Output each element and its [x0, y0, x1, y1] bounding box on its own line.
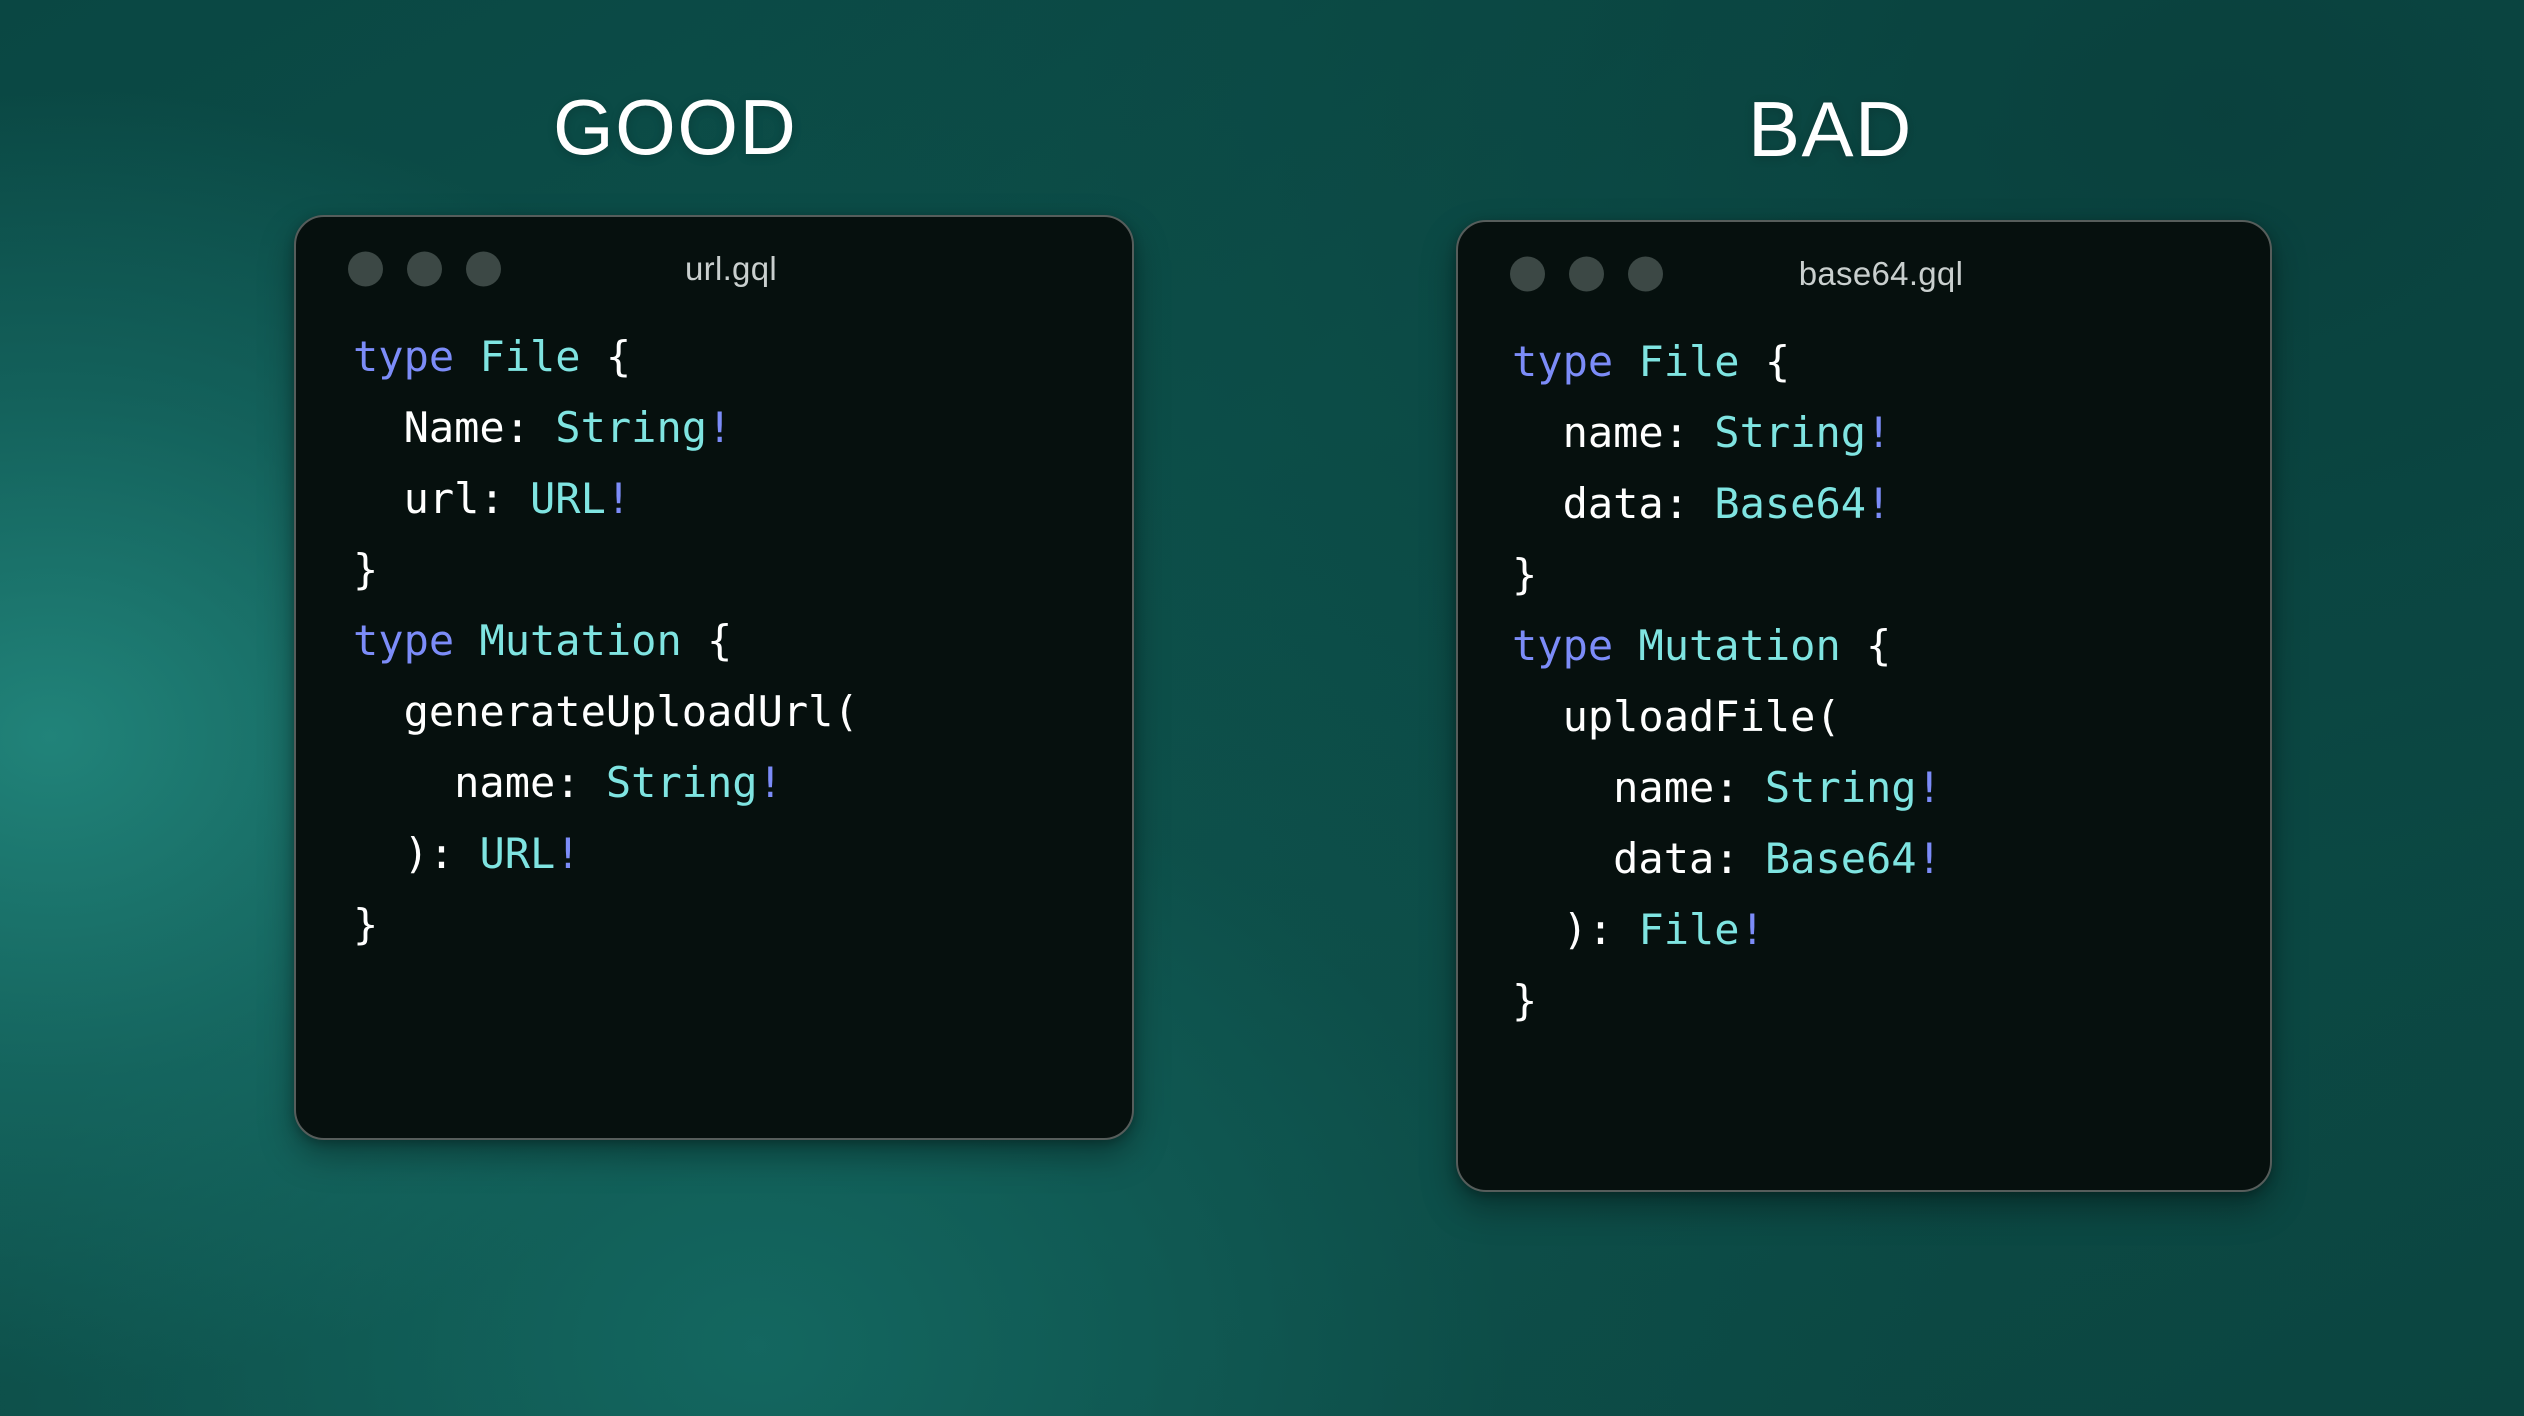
window-titlebar-good: url.gql: [296, 217, 1132, 321]
code-token-type: Base64: [1714, 479, 1866, 528]
code-window-bad: base64.gql type File { name: String! dat…: [1456, 220, 2272, 1192]
code-line: Name: String!: [353, 392, 1132, 463]
code-token-type: Mutation: [479, 616, 681, 665]
code-token-pun: ):: [353, 829, 479, 878]
code-block-good: type File { Name: String! url: URL!}type…: [296, 321, 1132, 960]
code-line: ): URL!: [353, 818, 1132, 889]
maximize-dot-icon[interactable]: [466, 252, 501, 287]
traffic-light-dots-good: [348, 252, 501, 287]
code-token-type: String: [1714, 408, 1866, 457]
code-token-type: String: [1765, 763, 1917, 812]
code-line: }: [353, 534, 1132, 605]
code-token-pun: {: [581, 332, 632, 381]
code-token-bang: !: [555, 829, 580, 878]
code-line: data: Base64!: [1512, 823, 2270, 894]
code-token-pun: data:: [1512, 479, 1714, 528]
minimize-dot-icon[interactable]: [1569, 257, 1604, 292]
code-token-pun: uploadFile(: [1512, 692, 1841, 741]
code-line: type Mutation {: [1512, 610, 2270, 681]
code-token-type: Base64: [1765, 834, 1917, 883]
code-line: name: String!: [1512, 397, 2270, 468]
close-dot-icon[interactable]: [1510, 257, 1545, 292]
code-token-pun: {: [1740, 337, 1791, 386]
traffic-light-dots-bad: [1510, 257, 1663, 292]
code-token-bang: !: [707, 403, 732, 452]
code-token-pun: [1613, 621, 1638, 670]
code-token-bang: !: [1866, 408, 1891, 457]
code-token-pun: name:: [1512, 408, 1714, 457]
code-token-pun: name:: [1512, 763, 1765, 812]
code-window-good: url.gql type File { Name: String! url: U…: [294, 215, 1134, 1140]
code-token-pun: }: [353, 900, 378, 949]
code-token-kw: type: [1512, 337, 1613, 386]
code-token-type: URL: [479, 829, 555, 878]
code-token-type: URL: [530, 474, 606, 523]
close-dot-icon[interactable]: [348, 252, 383, 287]
code-token-bang: !: [758, 758, 783, 807]
code-token-pun: name:: [353, 758, 606, 807]
code-token-kw: type: [353, 616, 454, 665]
code-token-pun: [454, 616, 479, 665]
code-token-pun: ):: [1512, 905, 1638, 954]
code-token-pun: generateUploadUrl(: [353, 687, 859, 736]
code-token-pun: [454, 332, 479, 381]
code-token-pun: Name:: [353, 403, 555, 452]
code-token-type: Mutation: [1638, 621, 1840, 670]
code-line: }: [1512, 965, 2270, 1036]
code-line: name: String!: [353, 747, 1132, 818]
maximize-dot-icon[interactable]: [1628, 257, 1663, 292]
code-line: type File {: [1512, 326, 2270, 397]
code-token-bang: !: [606, 474, 631, 523]
code-token-bang: !: [1740, 905, 1765, 954]
code-token-type: String: [555, 403, 707, 452]
code-token-kw: type: [1512, 621, 1613, 670]
code-line: data: Base64!: [1512, 468, 2270, 539]
code-token-type: File: [479, 332, 580, 381]
code-token-pun: [1613, 337, 1638, 386]
code-line: ): File!: [1512, 894, 2270, 965]
code-token-kw: type: [353, 332, 454, 381]
minimize-dot-icon[interactable]: [407, 252, 442, 287]
column-heading-bad: BAD: [1748, 90, 1913, 168]
code-line: }: [353, 889, 1132, 960]
code-line: name: String!: [1512, 752, 2270, 823]
code-token-bang: !: [1917, 763, 1942, 812]
column-heading-good: GOOD: [553, 88, 797, 166]
code-token-pun: {: [682, 616, 733, 665]
code-token-bang: !: [1866, 479, 1891, 528]
code-token-type: File: [1638, 337, 1739, 386]
code-token-pun: data:: [1512, 834, 1765, 883]
code-token-type: File: [1638, 905, 1739, 954]
window-titlebar-bad: base64.gql: [1458, 222, 2270, 326]
code-line: }: [1512, 539, 2270, 610]
comparison-stage: GOOD url.gql type File { Name: String! u…: [0, 0, 2524, 1416]
code-token-pun: }: [1512, 550, 1537, 599]
code-line: url: URL!: [353, 463, 1132, 534]
code-token-bang: !: [1917, 834, 1942, 883]
code-line: generateUploadUrl(: [353, 676, 1132, 747]
code-line: type File {: [353, 321, 1132, 392]
code-token-type: String: [606, 758, 758, 807]
code-token-pun: {: [1841, 621, 1892, 670]
code-token-pun: }: [1512, 976, 1537, 1025]
code-line: uploadFile(: [1512, 681, 2270, 752]
code-line: type Mutation {: [353, 605, 1132, 676]
code-token-pun: url:: [353, 474, 530, 523]
code-token-pun: }: [353, 545, 378, 594]
code-block-bad: type File { name: String! data: Base64!}…: [1458, 326, 2270, 1036]
